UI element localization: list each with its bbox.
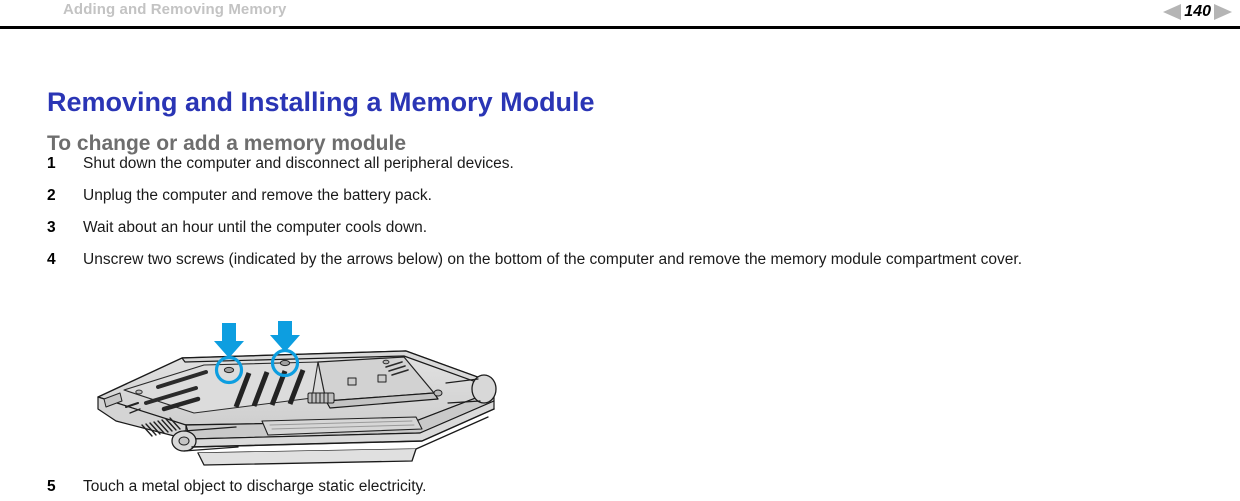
page-navigator: 140 bbox=[1163, 2, 1232, 22]
list-item: 1 Shut down the computer and disconnect … bbox=[47, 153, 1197, 174]
step-text: Unscrew two screws (indicated by the arr… bbox=[83, 249, 1197, 270]
triangle-left-icon[interactable] bbox=[1163, 4, 1181, 20]
list-item: 5 Touch a metal object to discharge stat… bbox=[47, 476, 1233, 497]
step-number: 3 bbox=[47, 217, 56, 238]
arrow-down-left bbox=[214, 323, 244, 358]
page-header: Adding and Removing Memory 140 bbox=[0, 0, 1240, 28]
running-header-title: Adding and Removing Memory bbox=[63, 1, 286, 18]
procedure-step-list: 1 Shut down the computer and disconnect … bbox=[47, 153, 1197, 281]
step-number: 2 bbox=[47, 185, 56, 206]
laptop-bottom-illustration bbox=[86, 321, 506, 476]
step-text: Wait about an hour until the computer co… bbox=[83, 217, 1197, 238]
step-text: Touch a metal object to discharge static… bbox=[83, 476, 1233, 497]
step-number: 5 bbox=[47, 476, 56, 497]
step-number: 4 bbox=[47, 249, 56, 270]
step-text: Unplug the computer and remove the batte… bbox=[83, 185, 1197, 206]
list-item: 2 Unplug the computer and remove the bat… bbox=[47, 185, 1197, 206]
step-text: Shut down the computer and disconnect al… bbox=[83, 153, 1197, 174]
list-item: 4 Unscrew two screws (indicated by the a… bbox=[47, 249, 1197, 270]
page-title: Removing and Installing a Memory Module bbox=[47, 87, 595, 117]
arrow-down-right bbox=[270, 321, 300, 352]
step-number: 1 bbox=[47, 153, 56, 174]
list-item: 3 Wait about an hour until the computer … bbox=[47, 217, 1197, 238]
header-divider-rule bbox=[0, 26, 1240, 29]
page-number: 140 bbox=[1184, 4, 1211, 20]
triangle-right-icon[interactable] bbox=[1214, 4, 1232, 20]
